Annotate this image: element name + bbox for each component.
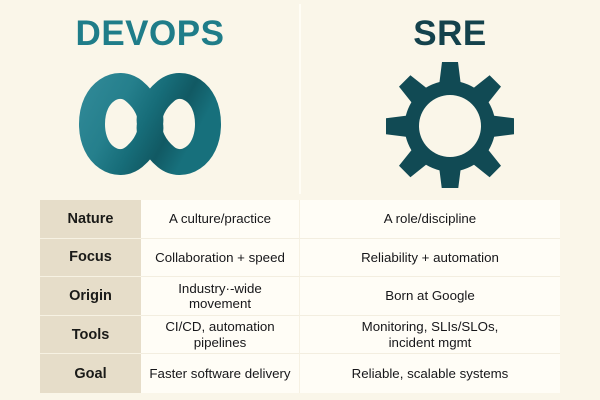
cell-sre-goal: Reliable, scalable systems [300,354,560,393]
hero-panel-sre: SRE [300,0,600,198]
row-label-goal: Goal [40,354,141,393]
row-label-nature: Nature [40,200,141,239]
cell-sre-tools-line2: incident mgmt [362,335,499,350]
table-row: Focus Collaboration + speed Reliability … [40,239,560,278]
cell-devops-tools-line2: pipelines [165,335,274,350]
row-label-focus: Focus [40,239,141,278]
sre-title: SRE [413,16,486,51]
table-row: Tools CI/CD, automation pipelines Monito… [40,316,560,355]
cell-sre-focus: Reliability + automation [300,239,560,278]
hero-section: DEVOPS SRE [0,0,600,198]
hero-panel-devops: DEVOPS [0,0,300,198]
row-label-tools: Tools [40,316,141,355]
cell-devops-origin-line1: Industry·-wide [178,281,262,296]
cell-devops-nature: A culture/practice [141,200,300,239]
table-row: Goal Faster software delivery Reliable, … [40,354,560,393]
infinity-icon [30,60,270,188]
table-row: Origin Industry·-wide movement Born at G… [40,277,560,316]
cell-devops-tools-line1: CI/CD, automation [165,319,274,334]
comparison-table: Nature A culture/practice A role/discipl… [40,200,560,393]
devops-title: DEVOPS [76,16,225,51]
cell-sre-origin: Born at Google [300,277,560,316]
cell-sre-tools-line1: Monitoring, SLIs/SLOs, [362,319,499,334]
cell-devops-tools: CI/CD, automation pipelines [141,316,300,355]
cell-devops-focus: Collaboration + speed [141,239,300,278]
gear-icon [375,60,525,188]
hero-column-divider [299,4,301,194]
cell-sre-nature: A role/discipline [300,200,560,239]
row-label-origin: Origin [40,277,141,316]
devops-vs-sre-infographic: DEVOPS SRE [0,0,600,400]
table-row: Nature A culture/practice A role/discipl… [40,200,560,239]
cell-devops-origin: Industry·-wide movement [141,277,300,316]
cell-devops-origin-line2: movement [178,296,262,311]
cell-sre-tools: Monitoring, SLIs/SLOs, incident mgmt [300,316,560,355]
cell-devops-goal: Faster software delivery [141,354,300,393]
